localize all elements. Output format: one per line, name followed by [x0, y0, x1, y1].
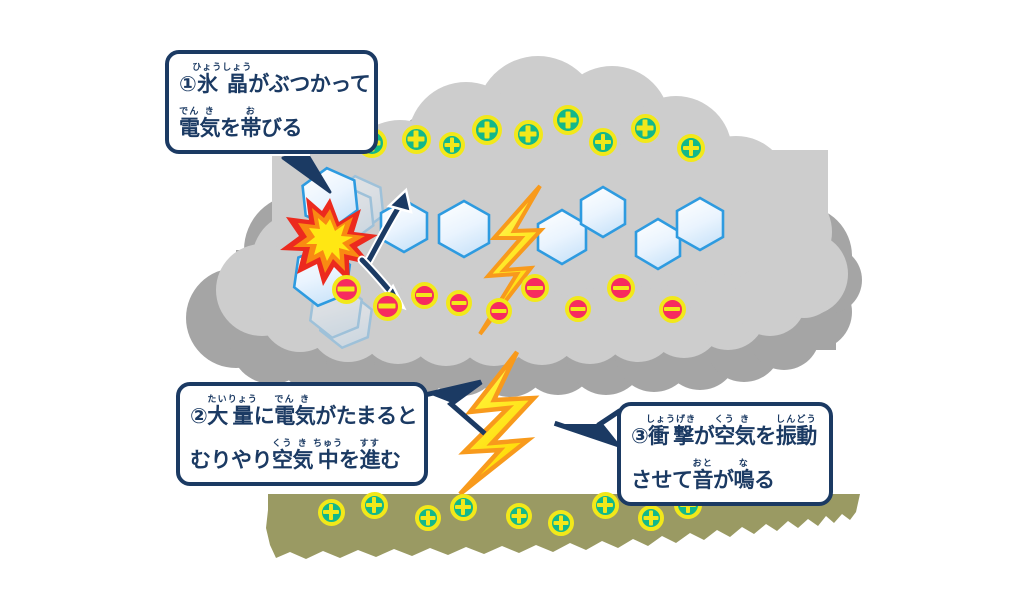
- callout-1-line-1: ①氷晶ひょうしょうがぶつかって: [179, 63, 361, 95]
- diagram-scene: ①氷晶ひょうしょうがぶつかって 電でん気きを帯おびる ②大たい量りょうに電でん気…: [0, 0, 1024, 602]
- callout-2-line-1: ②大たい量りょうに電でん気きがたまると: [190, 395, 411, 427]
- callout-1-line-2: 電でん気きを帯おびる: [179, 107, 361, 139]
- callout-1: ①氷晶ひょうしょうがぶつかって 電でん気きを帯おびる: [165, 50, 378, 154]
- callout-3-line-1: ③衝撃しょうげきが空くう気きを振動しんどう: [631, 415, 816, 447]
- callout-2: ②大たい量りょうに電でん気きがたまると むりやり空くう気き中ちゅうを進すすむ: [176, 382, 428, 486]
- callout-3-tail: [0, 0, 1024, 602]
- lightning-diagram-root: ①氷晶ひょうしょうがぶつかって 電でん気きを帯おびる ②大たい量りょうに電でん気…: [0, 0, 1024, 602]
- callout-2-line-2: むりやり空くう気き中ちゅうを進すすむ: [190, 439, 411, 471]
- callout-3: ③衝撃しょうげきが空くう気きを振動しんどう させて音おとが鳴なる: [617, 402, 833, 506]
- callout-3-line-2: させて音おとが鳴なる: [631, 459, 816, 491]
